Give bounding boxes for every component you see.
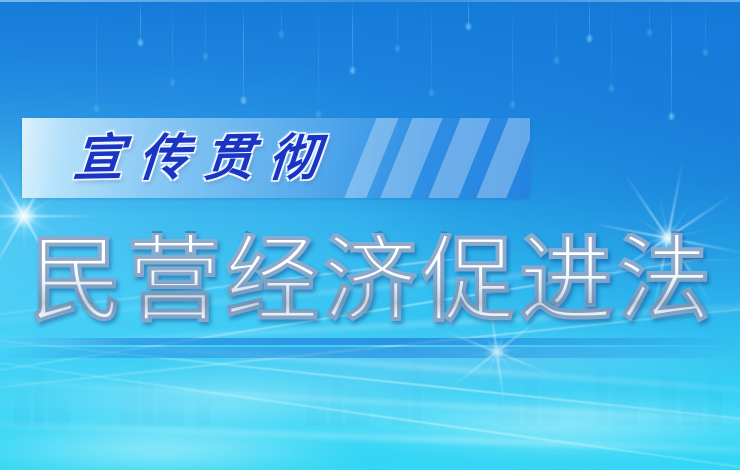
- rain-line-1: [140, 0, 141, 46]
- rain-line-17: [705, 0, 706, 56]
- light-streak-9: [0, 412, 740, 463]
- rain-line-7: [352, 0, 353, 74]
- rain-line-8: [397, 0, 398, 52]
- title-char-5: 进: [519, 233, 613, 327]
- rain-line-5: [281, 0, 282, 38]
- title-char-3: 济: [323, 233, 417, 327]
- rain-line-11: [512, 0, 513, 108]
- eyebrow-char-3: 彻: [267, 132, 322, 183]
- rain-line-6: [318, 0, 319, 118]
- eyebrow-banner-band: 宣传贯彻: [22, 118, 530, 198]
- title-char-1: 营: [127, 233, 221, 327]
- main-title-text: 民营经济促进法: [29, 233, 711, 327]
- rain-line-12: [556, 0, 557, 64]
- title-char-4: 促: [421, 233, 515, 327]
- rain-line-0: [96, 0, 97, 112]
- rain-line-3: [205, 0, 206, 60]
- main-title-area: 民营经济促进法: [0, 224, 740, 336]
- horizontal-accent-bar-upper: [0, 338, 740, 345]
- rain-line-2: [172, 0, 173, 86]
- eyebrow-char-1: 传: [137, 132, 192, 183]
- horizontal-accent-bar-lower: [0, 347, 740, 358]
- title-char-2: 经: [225, 233, 319, 327]
- rain-line-10: [468, 0, 469, 30]
- eyebrow-char-0: 宣: [72, 132, 127, 183]
- chevron-stripes: [350, 118, 530, 198]
- eyebrow-text: 宣传贯彻: [74, 133, 320, 183]
- rain-line-13: [589, 0, 590, 42]
- lens-flare-spike-0-0: [0, 215, 98, 217]
- title-char-0: 民: [29, 233, 123, 327]
- rain-line-15: [649, 0, 650, 36]
- rain-line-16: [671, 0, 672, 120]
- rain-line-14: [611, 0, 612, 92]
- top-edge-hairline: [0, 0, 740, 2]
- eyebrow-char-2: 贯: [202, 132, 257, 183]
- rain-line-9: [431, 0, 432, 96]
- promotional-banner-poster: 宣传贯彻 民营经济促进法: [0, 0, 740, 470]
- title-char-6: 法: [617, 233, 711, 327]
- rain-line-4: [243, 0, 244, 104]
